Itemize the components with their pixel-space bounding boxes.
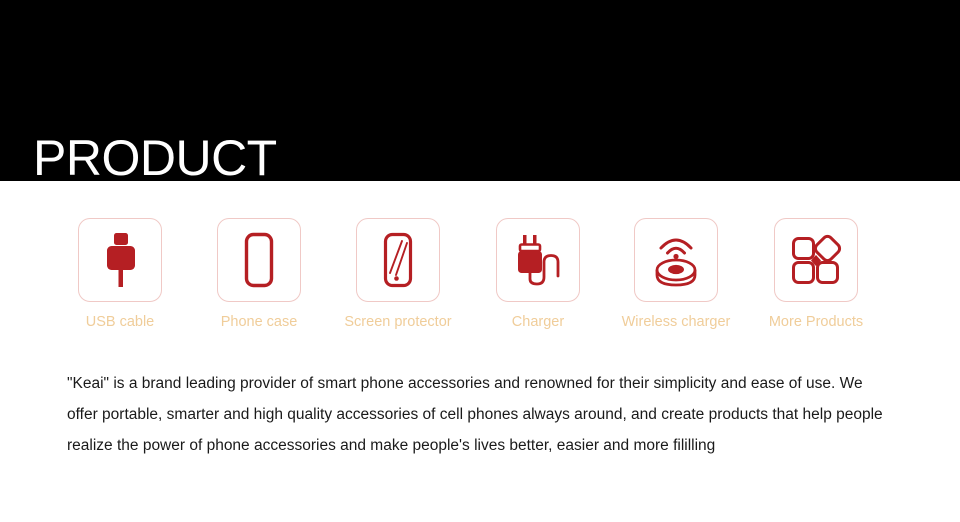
- product-introduction-page: PRODUCT INTRODUCTION USB cable: [0, 0, 960, 522]
- charger-icon-box[interactable]: [496, 218, 580, 302]
- usb-cable-icon-box[interactable]: [78, 218, 162, 302]
- product-category-more-products[interactable]: More Products: [746, 218, 886, 331]
- more-products-icon: [787, 231, 845, 289]
- screen-protector-icon: [372, 231, 424, 289]
- product-category-label: Screen protector: [328, 313, 468, 331]
- product-category-screen-protector[interactable]: Screen protector: [328, 218, 468, 331]
- wireless-charger-icon-box[interactable]: [634, 218, 718, 302]
- description-paragraph: "Keai" is a brand leading provider of sm…: [67, 368, 897, 461]
- product-category-usb-cable[interactable]: USB cable: [50, 218, 190, 331]
- product-category-phone-case[interactable]: Phone case: [189, 218, 329, 331]
- product-category-label: Charger: [468, 313, 608, 331]
- product-category-wireless-charger[interactable]: Wireless charger: [606, 218, 746, 331]
- header-band: PRODUCT INTRODUCTION: [0, 0, 960, 181]
- more-products-icon-box[interactable]: [774, 218, 858, 302]
- product-category-label: More Products: [746, 313, 886, 331]
- wireless-charger-icon: [647, 231, 705, 289]
- product-category-label: Wireless charger: [606, 313, 746, 331]
- product-category-charger[interactable]: Charger: [468, 218, 608, 331]
- page-title-line-1: PRODUCT: [33, 134, 410, 183]
- description-block: "Keai" is a brand leading provider of sm…: [67, 368, 897, 461]
- product-category-label: USB cable: [50, 313, 190, 331]
- phone-case-icon-box[interactable]: [217, 218, 301, 302]
- usb-cable-icon: [94, 231, 146, 289]
- charger-icon: [509, 231, 567, 289]
- product-category-label: Phone case: [189, 313, 329, 331]
- product-category-row: USB cable Phone case: [0, 218, 960, 344]
- phone-case-icon: [233, 231, 285, 289]
- screen-protector-icon-box[interactable]: [356, 218, 440, 302]
